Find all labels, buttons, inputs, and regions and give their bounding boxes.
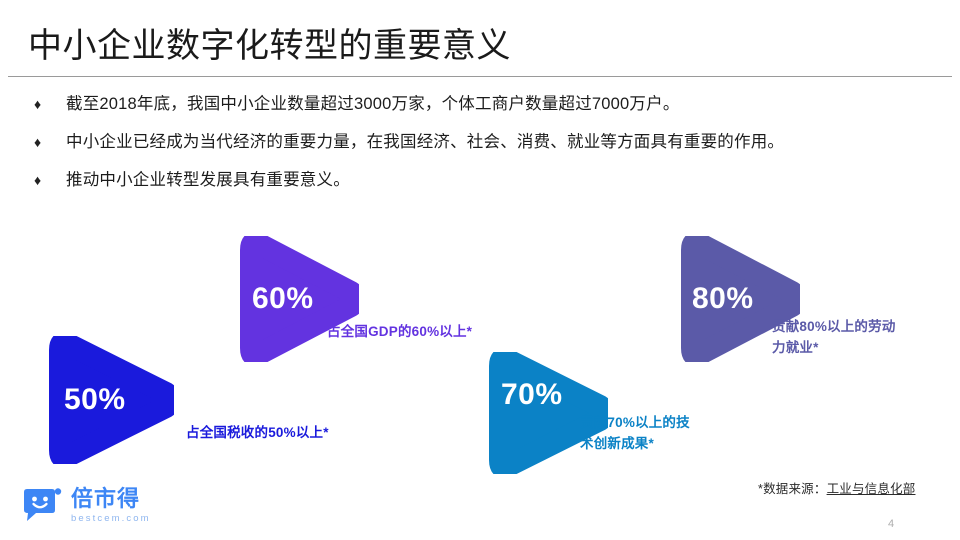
bullet-text: 中小企业已经成为当代经济的重要力量，在我国经济、社会、消费、就业等方面具有重要的… bbox=[66, 130, 940, 154]
stat-value-70: 70% bbox=[501, 378, 563, 412]
logo-domain: bestcem.com bbox=[71, 514, 151, 524]
diamond-bullet-icon: ♦ bbox=[30, 130, 66, 154]
stat-caption-80: 贡献80%以上的劳动 力就业* bbox=[772, 316, 896, 358]
list-item: ♦ 推动中小企业转型发展具有重要意义。 bbox=[30, 168, 940, 192]
stat-value-50: 50% bbox=[64, 383, 126, 417]
logo-name: 倍市得 bbox=[71, 488, 151, 510]
list-item: ♦ 中小企业已经成为当代经济的重要力量，在我国经济、社会、消费、就业等方面具有重… bbox=[30, 130, 940, 154]
stat-caption-60: 占全国GDP的60%以上* bbox=[327, 321, 472, 342]
bullet-text: 推动中小企业转型发展具有重要意义。 bbox=[66, 168, 940, 192]
slide-root: 中小企业数字化转型的重要意义 ♦ 截至2018年底，我国中小企业数量超过3000… bbox=[0, 0, 960, 540]
stat-value-80: 80% bbox=[692, 282, 754, 316]
stat-caption-70: 贡献70%以上的技 术创新成果* bbox=[580, 412, 690, 454]
footnote-prefix: *数据来源： bbox=[758, 482, 827, 496]
footnote-source: 工业与信息化部 bbox=[827, 482, 916, 496]
diamond-bullet-icon: ♦ bbox=[30, 168, 66, 192]
list-item: ♦ 截至2018年底，我国中小企业数量超过3000万家，个体工商户数量超过700… bbox=[30, 92, 940, 116]
bullet-text: 截至2018年底，我国中小企业数量超过3000万家，个体工商户数量超过7000万… bbox=[66, 92, 940, 116]
page-title: 中小企业数字化转型的重要意义 bbox=[28, 24, 511, 68]
page-number: 4 bbox=[888, 518, 894, 530]
data-source-footnote: *数据来源：工业与信息化部 bbox=[758, 478, 915, 497]
diamond-bullet-icon: ♦ bbox=[30, 92, 66, 116]
chat-smiley-icon bbox=[22, 488, 62, 524]
brand-logo: 倍市得 bestcem.com bbox=[22, 488, 151, 524]
bullet-list: ♦ 截至2018年底，我国中小企业数量超过3000万家，个体工商户数量超过700… bbox=[30, 92, 940, 206]
title-divider bbox=[8, 76, 952, 77]
logo-text-group: 倍市得 bestcem.com bbox=[71, 488, 151, 524]
stat-caption-50: 占全国税收的50%以上* bbox=[186, 422, 329, 443]
stat-value-60: 60% bbox=[252, 282, 314, 316]
